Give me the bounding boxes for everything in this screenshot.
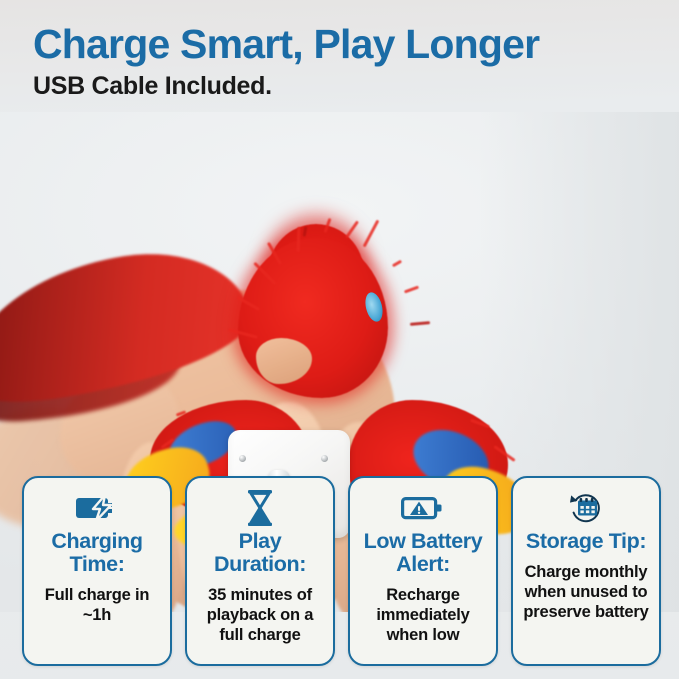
card-title: Charging Time: bbox=[30, 530, 164, 576]
card-body: Charge monthly when unused to preserve b… bbox=[519, 562, 653, 622]
feature-card-storage-tip: Storage Tip: Charge monthly when unused … bbox=[511, 476, 661, 666]
feature-card-play-duration: Play Duration: 35 minutes of playback on… bbox=[185, 476, 335, 666]
card-body: 35 minutes of playback on a full charge bbox=[193, 585, 327, 645]
fur-wisp bbox=[392, 260, 402, 268]
card-title: Low Battery Alert: bbox=[356, 530, 490, 576]
fur-wisp bbox=[345, 220, 359, 238]
hourglass-icon bbox=[245, 488, 275, 528]
feature-card-row: Charging Time: Full charge in ~1h Play D… bbox=[22, 476, 661, 666]
screw-top-right bbox=[321, 455, 328, 462]
battery-low-alert-icon bbox=[401, 488, 445, 528]
calendar-refresh-icon bbox=[567, 488, 605, 528]
fur-wisp bbox=[404, 286, 419, 294]
card-title: Play Duration: bbox=[193, 530, 327, 576]
header-block: Charge Smart, Play Longer USB Cable Incl… bbox=[33, 22, 653, 101]
card-title: Storage Tip: bbox=[526, 530, 646, 553]
battery-charging-icon bbox=[75, 488, 119, 528]
fur-wisp bbox=[410, 321, 430, 326]
fur-wisp bbox=[363, 220, 380, 248]
card-body: Full charge in ~1h bbox=[30, 585, 164, 625]
page-title: Charge Smart, Play Longer bbox=[33, 22, 653, 66]
feature-card-low-battery-alert: Low Battery Alert: Recharge immediately … bbox=[348, 476, 498, 666]
page-subtitle: USB Cable Included. bbox=[33, 72, 653, 101]
product-infographic: Charge Smart, Play Longer USB Cable Incl… bbox=[0, 0, 679, 679]
card-body: Recharge immediately when low bbox=[356, 585, 490, 645]
screw-top-left bbox=[239, 455, 246, 462]
feature-card-charging-time: Charging Time: Full charge in ~1h bbox=[22, 476, 172, 666]
